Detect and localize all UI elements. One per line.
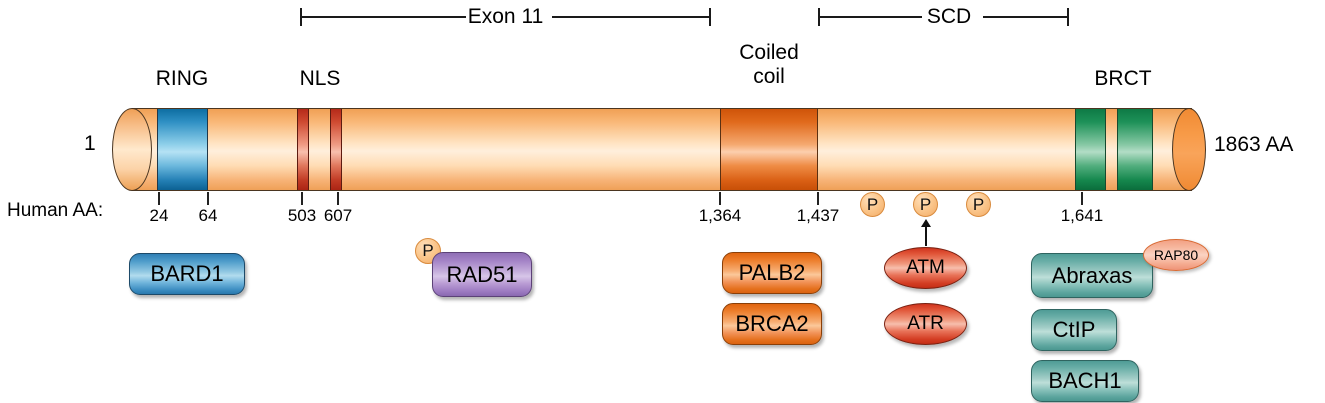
protein-bar-body [132,108,1192,191]
phospho-site-3: P [966,192,991,217]
atm-phospho-arrow-head [921,219,931,227]
partner-box-bach1[interactable]: BACH1 [1031,360,1139,402]
domain-band-nls-2 [330,109,342,190]
tick-607 [337,192,339,205]
protein-bar-c-terminus-cap [1172,108,1206,191]
domain-band-nls-1 [297,109,309,190]
aa-number-64: 64 [178,206,238,226]
protein-bar-n-terminus-cap [112,108,152,191]
aa-number-607: 607 [308,206,368,226]
tick-24 [158,192,160,205]
aa-number-1437: 1,437 [782,206,854,226]
domain-band-brct-2 [1117,109,1153,190]
aa-number-1364: 1,364 [684,206,756,226]
protein-bar [0,0,1325,210]
atm-phospho-arrow-line [925,226,927,246]
domain-band-coiled-coil [720,109,818,190]
partner-box-ctip[interactable]: CtIP [1031,309,1117,351]
kinase-atr: ATR [884,303,967,345]
partner-box-bard1[interactable]: BARD1 [129,253,245,295]
end-aa-label: 1863 AA [1214,133,1293,157]
partner-box-abraxas[interactable]: Abraxas [1031,253,1153,298]
start-aa-label: 1 [84,132,96,156]
tick-503 [301,192,303,205]
partner-box-brca2[interactable]: BRCA2 [722,303,822,345]
tick-1364 [719,192,721,205]
domain-band-brct-1 [1075,109,1106,190]
domain-band-ring [157,109,208,190]
human-aa-axis-label: Human AA: [7,200,103,222]
badge-rap80: RAP80 [1143,239,1209,271]
aa-number-1641: 1,641 [1046,206,1118,226]
tick-1437 [817,192,819,205]
phospho-site-1: P [860,192,885,217]
partner-box-palb2[interactable]: PALB2 [722,252,822,294]
partner-box-rad51[interactable]: RAD51 [432,252,532,297]
tick-1641 [1081,192,1083,205]
phospho-site-2: P [913,192,938,217]
kinase-atm: ATM [884,247,967,289]
tick-64 [207,192,209,205]
